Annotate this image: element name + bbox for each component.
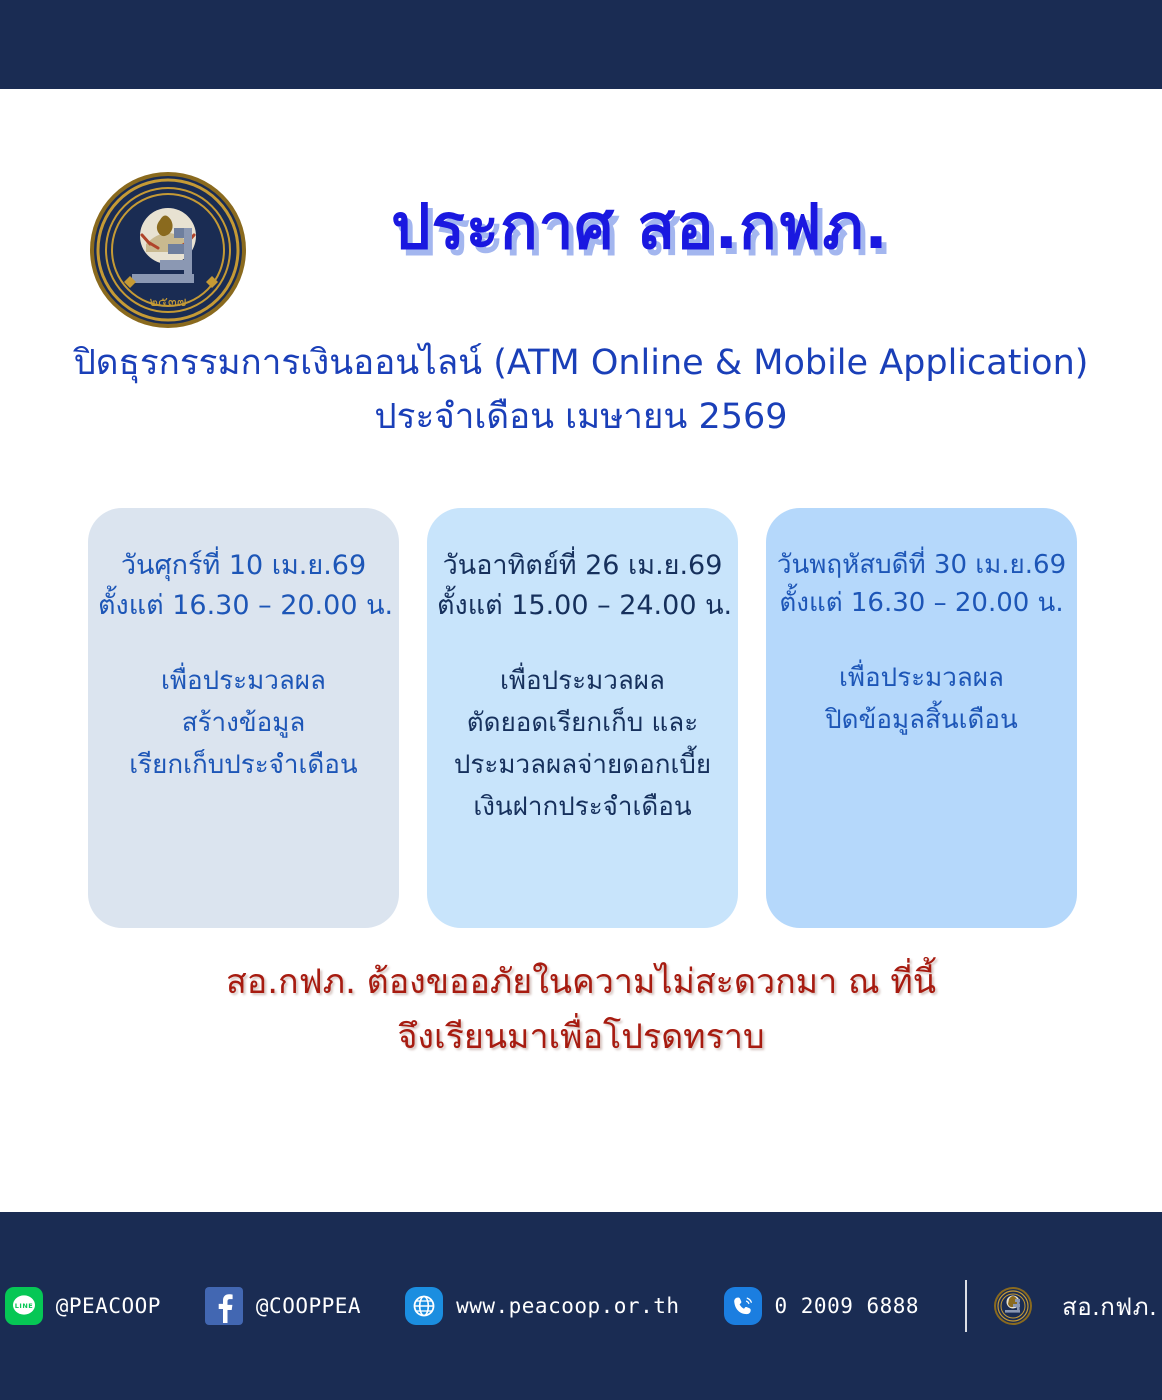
card-3-body-line-1: เพื่อประมวลผล [776,657,1067,699]
footer-contacts: LINE @PEACOOP @COOPPEA [0,1212,1162,1400]
top-navy-bar [0,0,1162,89]
card-2-time: ตั้งแต่ 15.00 – 24.00 น. [437,586,728,626]
contact-website-label: www.peacoop.or.th [456,1294,679,1318]
apology-line-1: สอ.กฟภ. ต้องขออภัยในความไม่สะดวกมา ณ ที่… [0,955,1162,1010]
contact-line-label: @PEACOOP [56,1294,161,1318]
footer-brand-label: สอ.กฟภ. [1062,1287,1157,1326]
subtitle: ปิดธุรกรรมการเงินออนไลน์ (ATM Online & M… [0,336,1162,445]
contact-phone[interactable]: 0 2009 6888 [724,1287,920,1325]
card-3-time: ตั้งแต่ 16.30 – 20.00 น. [776,584,1067,622]
card-3-heading: วันพฤหัสบดีที่ 30 เม.ย.69 ตั้งแต่ 16.30 … [776,546,1067,623]
svg-text:LINE: LINE [15,1302,33,1310]
footer-divider [965,1280,967,1332]
card-2-body-line-3: ประมวลผลจ่ายดอกเบี้ย [437,744,728,786]
card-1-body-line-1: เพื่อประมวลผล [98,660,389,702]
contact-facebook-label: @COOPPEA [256,1294,361,1318]
card-1-body: เพื่อประมวลผล สร้างข้อมูล เรียกเก็บประจำ… [98,660,389,786]
card-1-body-line-3: เรียกเก็บประจำเดือน [98,744,389,786]
card-2-body-line-1: เพื่อประมวลผล [437,660,728,702]
apology-note: สอ.กฟภ. ต้องขออภัยในความไม่สะดวกมา ณ ที่… [0,955,1162,1065]
card-3-date: วันพฤหัสบดีที่ 30 เม.ย.69 [776,546,1067,584]
footer-brand: สอ.กฟภ. [993,1286,1157,1326]
card-1-date: วันศุกร์ที่ 10 เม.ย.69 [98,546,389,586]
card-1-time: ตั้งแต่ 16.30 – 20.00 น. [98,586,389,626]
announcement-poster: ๒๕๓๗ ประกาศ สอ.กฟภ. ปิดธุรกรรมการเงินออน… [0,0,1162,1400]
schedule-cards: วันศุกร์ที่ 10 เม.ย.69 ตั้งแต่ 16.30 – 2… [88,508,1078,928]
cooperative-seal-icon [993,1286,1033,1326]
apology-line-2: จึงเรียนมาเพื่อโปรดทราบ [0,1010,1162,1065]
card-2-body-line-2: ตัดยอดเรียกเก็บ และ [437,702,728,744]
line-icon: LINE [5,1287,43,1325]
facebook-icon [205,1287,243,1325]
phone-icon [724,1287,762,1325]
header: ๒๕๓๗ ประกาศ สอ.กฟภ. [0,150,1162,320]
schedule-card-1: วันศุกร์ที่ 10 เม.ย.69 ตั้งแต่ 16.30 – 2… [88,508,399,928]
card-2-body: เพื่อประมวลผล ตัดยอดเรียกเก็บ และ ประมวล… [437,660,728,828]
contact-facebook[interactable]: @COOPPEA [205,1287,361,1325]
card-2-date: วันอาทิตย์ที่ 26 เม.ย.69 [437,546,728,586]
cooperative-seal-logo: ๒๕๓๗ [88,170,248,330]
contact-phone-label: 0 2009 6888 [775,1294,920,1318]
subtitle-line-2: ประจำเดือน เมษายน 2569 [0,390,1162,444]
card-3-body: เพื่อประมวลผล ปิดข้อมูลสิ้นเดือน [776,657,1067,741]
card-2-body-line-4: เงินฝากประจำเดือน [437,786,728,828]
subtitle-line-1: ปิดธุรกรรมการเงินออนไลน์ (ATM Online & M… [74,343,1089,383]
globe-icon [405,1287,443,1325]
card-1-body-line-2: สร้างข้อมูล [98,702,389,744]
contact-line[interactable]: LINE @PEACOOP [5,1287,161,1325]
svg-text:๒๕๓๗: ๒๕๓๗ [149,295,186,310]
schedule-card-3: วันพฤหัสบดีที่ 30 เม.ย.69 ตั้งแต่ 16.30 … [766,508,1077,928]
page-title: ประกาศ สอ.กฟภ. [290,194,990,259]
card-2-heading: วันอาทิตย์ที่ 26 เม.ย.69 ตั้งแต่ 15.00 –… [437,546,728,626]
schedule-card-2: วันอาทิตย์ที่ 26 เม.ย.69 ตั้งแต่ 15.00 –… [427,508,738,928]
contact-website[interactable]: www.peacoop.or.th [405,1287,679,1325]
card-1-heading: วันศุกร์ที่ 10 เม.ย.69 ตั้งแต่ 16.30 – 2… [98,546,389,626]
card-3-body-line-2: ปิดข้อมูลสิ้นเดือน [776,699,1067,741]
